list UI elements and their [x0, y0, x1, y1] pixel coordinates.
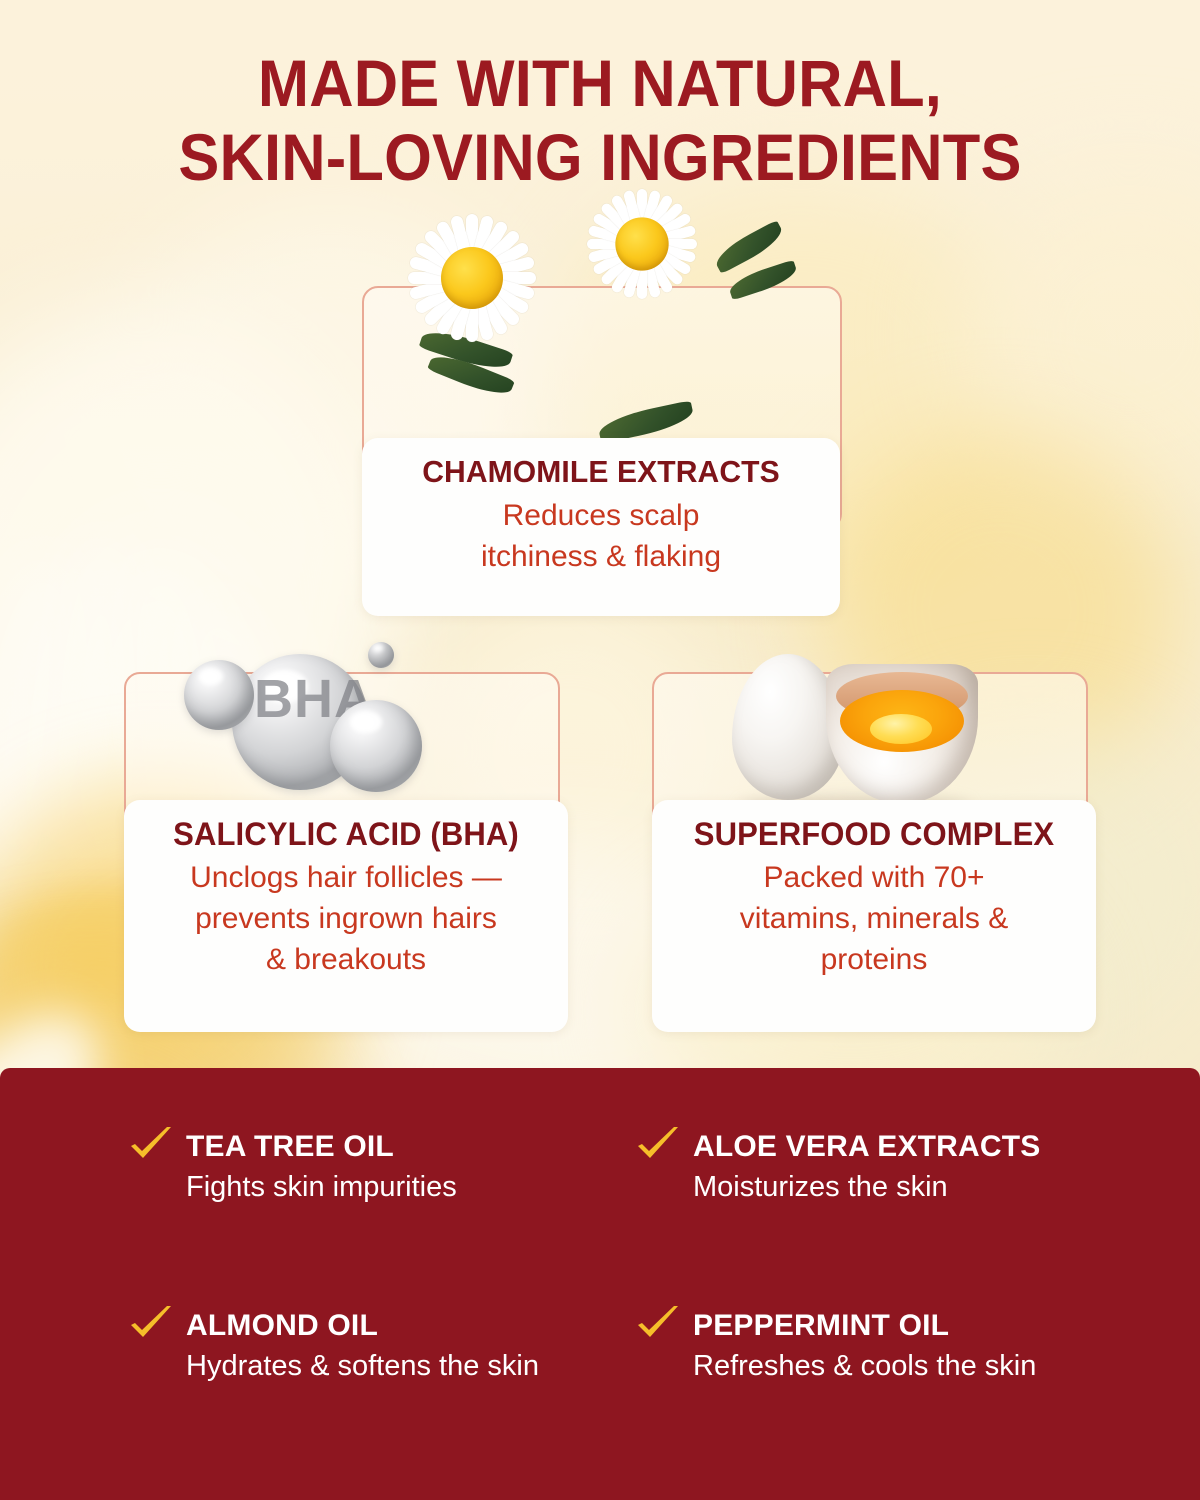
check-icon	[128, 1303, 174, 1349]
ingredient-desc-line: & breakouts	[134, 939, 558, 980]
benefit-desc: Refreshes & cools the skin	[693, 1347, 1116, 1386]
benefit-title: ALOE VERA EXTRACTS	[693, 1128, 1116, 1166]
benefit-title: PEPPERMINT OIL	[693, 1307, 1116, 1345]
ingredient-title: CHAMOMILE EXTRACTS	[379, 452, 823, 492]
benefit-title: ALMOND OIL	[186, 1307, 609, 1345]
check-icon	[128, 1124, 174, 1170]
ingredient-card-chamomile-text-panel: CHAMOMILE EXTRACTS Reduces scalp itchine…	[362, 438, 840, 616]
page-title-line-1: MADE WITH NATURAL,	[258, 46, 942, 120]
benefit-desc: Moisturizes the skin	[693, 1168, 1116, 1207]
benefit-title: TEA TREE OIL	[186, 1128, 609, 1166]
ingredient-card-superfood-complex-text-panel: SUPERFOOD COMPLEX Packed with 70+ vitami…	[652, 800, 1096, 1032]
check-icon	[635, 1303, 681, 1349]
ingredient-card-salicylic-acid-text-panel: SALICYLIC ACID (BHA) Unclogs hair follic…	[124, 800, 568, 1032]
ingredient-desc-line: Reduces scalp	[372, 495, 830, 536]
benefit-item-almond-oil: ALMOND OIL Hydrates & softens the skin	[128, 1307, 609, 1460]
benefits-band: TEA TREE OIL Fights skin impurities ALOE…	[0, 1068, 1200, 1500]
ingredient-desc-line: proteins	[662, 939, 1086, 980]
benefit-item-peppermint-oil: PEPPERMINT OIL Refreshes & cools the ski…	[635, 1307, 1116, 1460]
ingredient-desc-line: prevents ingrown hairs	[134, 898, 558, 939]
benefit-desc: Fights skin impurities	[186, 1168, 609, 1207]
benefit-item-tea-tree-oil: TEA TREE OIL Fights skin impurities	[128, 1128, 609, 1281]
page-title-line-2: SKIN-LOVING INGREDIENTS	[42, 120, 1158, 194]
ingredient-title: SALICYLIC ACID (BHA)	[140, 814, 551, 854]
check-icon	[635, 1124, 681, 1170]
ingredient-title: SUPERFOOD COMPLEX	[668, 814, 1079, 854]
ingredient-desc-line: itchiness & flaking	[372, 536, 830, 577]
benefit-desc: Hydrates & softens the skin	[186, 1347, 609, 1386]
ingredient-desc-line: Packed with 70+	[662, 857, 1086, 898]
ingredient-desc-line: Unclogs hair follicles —	[134, 857, 558, 898]
benefit-item-aloe-vera: ALOE VERA EXTRACTS Moisturizes the skin	[635, 1128, 1116, 1281]
page-title: MADE WITH NATURAL, SKIN-LOVING INGREDIEN…	[42, 46, 1158, 194]
ingredient-desc-line: vitamins, minerals &	[662, 898, 1086, 939]
